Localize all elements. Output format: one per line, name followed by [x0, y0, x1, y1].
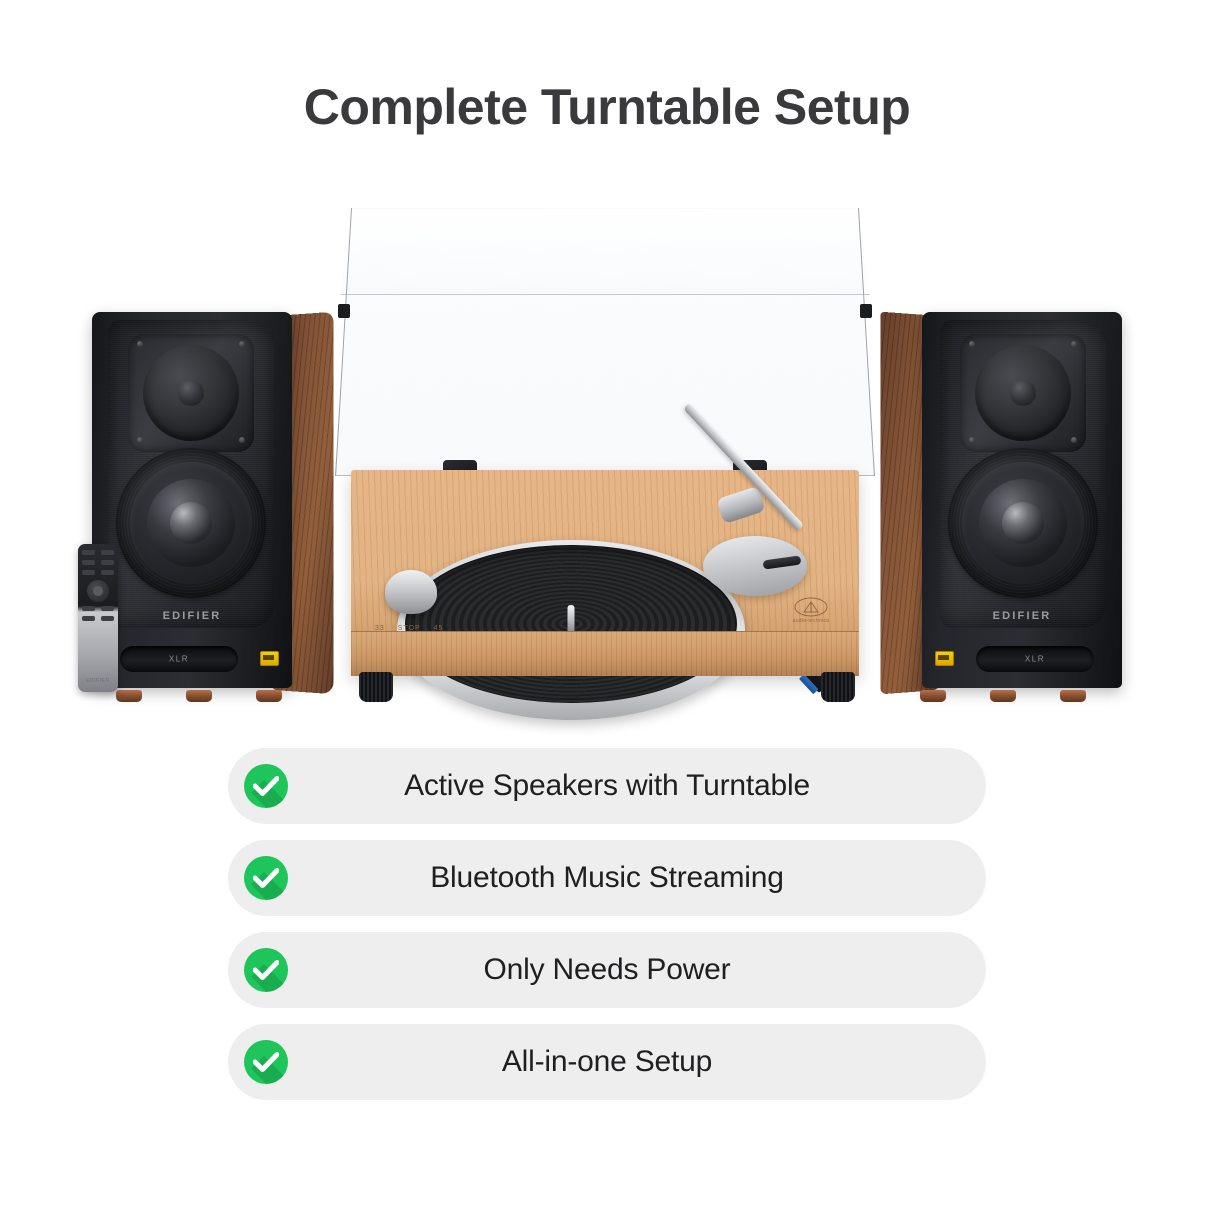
turntable: 33 STOP 45 audio-technica: [327, 208, 887, 708]
woofer-driver: [948, 448, 1098, 598]
hi-res-audio-badge-icon: [260, 651, 279, 666]
audio-technica-logo: audio-technica: [785, 597, 837, 624]
feature-list: Active Speakers with Turntable Bluetooth…: [228, 748, 986, 1116]
speaker-brand-label: EDIFIER: [993, 610, 1052, 622]
product-hero-image: EDIFIER XLR EDIFIER: [0, 165, 1214, 720]
feature-item-only-needs-power[interactable]: Only Needs Power: [228, 932, 986, 1008]
speaker-cabinet: EDIFIER XLR: [922, 312, 1122, 688]
feature-item-bluetooth-streaming[interactable]: Bluetooth Music Streaming: [228, 840, 986, 916]
feature-label: Bluetooth Music Streaming: [228, 861, 986, 895]
tweeter-plate: [960, 334, 1086, 452]
speed-control-knob[interactable]: [385, 570, 437, 614]
dust-cover-top-panel: [335, 208, 875, 295]
speaker-port-label: XLR: [169, 655, 189, 664]
speaker-port-label: XLR: [1025, 655, 1045, 664]
speaker-baffle: [108, 320, 274, 628]
check-circle-icon: [244, 1040, 288, 1084]
speaker-bass-port: XLR: [976, 646, 1094, 672]
dust-cover: [335, 208, 875, 476]
woofer-driver: [116, 448, 266, 598]
screw-icon: [1071, 437, 1077, 443]
feature-item-all-in-one-setup[interactable]: All-in-one Setup: [228, 1024, 986, 1100]
speaker-foot: [186, 690, 212, 702]
dust-cover-hinge: [338, 304, 350, 318]
speaker-foot: [990, 690, 1016, 702]
speaker-foot: [256, 690, 282, 702]
remote-button-row: [82, 560, 114, 566]
speaker-foot: [1060, 690, 1086, 702]
remote-brand-label: EDIFIER: [78, 678, 118, 684]
feature-label: Active Speakers with Turntable: [228, 769, 986, 803]
speaker-feet: [86, 686, 334, 702]
page-title: Complete Turntable Setup: [0, 78, 1214, 136]
spindle: [568, 605, 575, 633]
tweeter-dome: [1010, 380, 1036, 406]
speaker-foot: [116, 690, 142, 702]
remote-button-row: [82, 550, 114, 556]
product-infographic: Complete Turntable Setup: [0, 0, 1214, 1214]
screw-icon: [969, 437, 975, 443]
feature-item-active-speakers[interactable]: Active Speakers with Turntable: [228, 748, 986, 824]
check-circle-icon: [244, 764, 288, 808]
tweeter-cone: [975, 345, 1071, 441]
screw-icon: [969, 341, 975, 347]
woofer-dust-cap: [170, 502, 212, 544]
hi-res-audio-badge-icon: [935, 651, 954, 666]
left-speaker: EDIFIER XLR: [86, 302, 334, 702]
screw-icon: [239, 437, 245, 443]
tweeter-dome: [178, 380, 204, 406]
speaker-baffle: [940, 320, 1106, 628]
dust-cover-hinge: [860, 304, 872, 318]
feature-label: Only Needs Power: [228, 953, 986, 987]
speaker-bass-port: XLR: [120, 646, 238, 672]
tweeter-cone: [143, 345, 239, 441]
turntable-foot: [821, 672, 855, 702]
audio-technica-logo-text: audio-technica: [785, 618, 837, 624]
speaker-cabinet: EDIFIER XLR: [92, 312, 292, 688]
speaker-brand-label: EDIFIER: [163, 610, 222, 622]
turntable-plinth: 33 STOP 45 audio-technica: [351, 470, 859, 676]
turntable-foot: [359, 672, 393, 702]
tonearm-counterweight: [716, 486, 766, 524]
screw-icon: [1071, 341, 1077, 347]
woofer-dust-cap: [1002, 502, 1044, 544]
remote-button-row: [82, 606, 114, 612]
feature-label: All-in-one Setup: [228, 1045, 986, 1079]
screw-icon: [239, 341, 245, 347]
tonearm-base: [703, 536, 807, 596]
remote-dpad: [87, 580, 109, 602]
remote-button-row: [82, 570, 114, 576]
screw-icon: [137, 341, 143, 347]
speaker-feet: [880, 686, 1128, 702]
remote-control: EDIFIER: [78, 544, 118, 692]
remote-button-row: [82, 616, 114, 622]
plinth-front-edge: [351, 631, 859, 676]
check-circle-icon: [244, 948, 288, 992]
speaker-foot: [920, 690, 946, 702]
check-circle-icon: [244, 856, 288, 900]
screw-icon: [137, 437, 143, 443]
right-speaker: EDIFIER XLR: [880, 302, 1128, 702]
tweeter-plate: [128, 334, 254, 452]
